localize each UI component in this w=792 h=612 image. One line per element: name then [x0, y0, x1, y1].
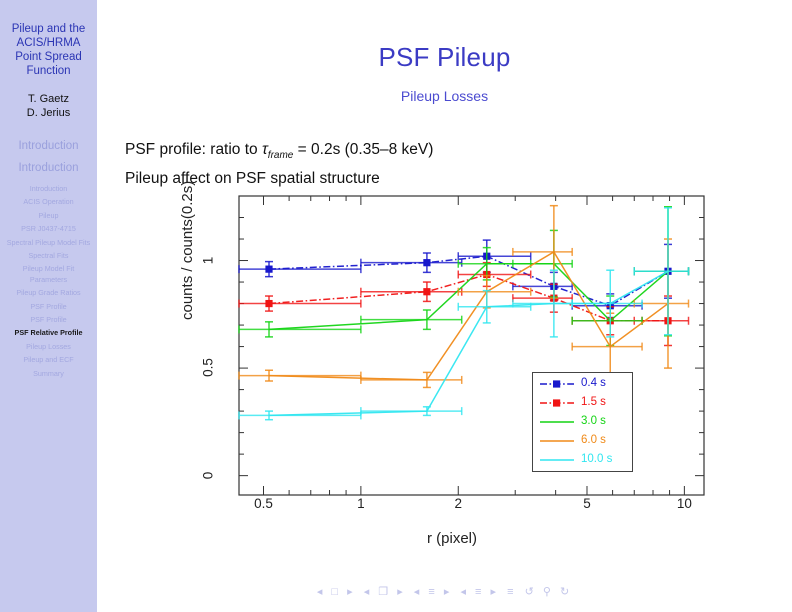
page-subtitle: Pileup Losses [97, 88, 792, 104]
sidebar-item-acis-operation[interactable]: ACIS Operation [6, 197, 91, 207]
nav-back-search-forward-icon[interactable]: ↺ ⚲ ↻ [525, 586, 573, 598]
legend-entry-3: 6.0 s [533, 431, 632, 449]
chart-legend: 0.4 s 1.5 s 3.0 s 6.0 s 10.0 s [532, 372, 633, 472]
sidebar-item-summary[interactable]: Summary [6, 369, 91, 379]
y-axis-label: counts / counts(0.2s) [179, 181, 196, 320]
chart-series-3 [239, 206, 689, 388]
data-point-marker [265, 266, 272, 273]
x-tick-label-2: 2 [438, 496, 478, 511]
bullet-line-2: Pileup affect on PSF spatial structure [125, 167, 765, 190]
sidebar-section-introduction-2[interactable]: Introduction [0, 160, 97, 176]
tau-subscript: frame [268, 150, 294, 161]
legend-entry-0: 0.4 s [533, 374, 632, 392]
bullet-line-1: PSF profile: ratio to τframe = 0.2s (0.3… [125, 138, 765, 167]
sidebar-item-psf-relative-profile[interactable]: PSF Relative Profile [6, 328, 91, 338]
y-tick-label-0: 0 [201, 460, 216, 490]
legend-swatch-2 [539, 415, 575, 427]
legend-entry-1: 1.5 s [533, 393, 632, 411]
chart-canvas [187, 190, 727, 520]
tau-symbol: τframe [262, 141, 293, 158]
sidebar-item-pileup-losses[interactable]: Pileup Losses [6, 342, 91, 352]
nav-section-icon[interactable]: ◂ ≡ ▸ [460, 586, 499, 598]
legend-swatch-0 [539, 377, 575, 389]
chart-series-0 [239, 240, 689, 317]
nav-frame-icon[interactable]: ◂ □ ▸ [317, 586, 356, 598]
x-tick-label-4: 10 [664, 496, 704, 511]
navigation-bar: ◂ □ ▸ ◂ ❐ ▸ ◂ ≡ ▸ ◂ ≡ ▸ ≡ ↺ ⚲ ↻ [97, 585, 792, 598]
author-2: D. Jerius [0, 106, 97, 120]
legend-label-2: 3.0 s [581, 415, 606, 427]
nav-subsection-icon[interactable]: ◂ ≡ ▸ [414, 586, 453, 598]
sidebar-section-introduction-1[interactable]: Introduction [0, 138, 97, 154]
legend-swatch-1 [539, 396, 575, 408]
psf-relative-profile-chart: counts / counts(0.2s) r (pixel) 0.512510… [187, 190, 727, 570]
chart-frame [239, 196, 704, 495]
nav-doc-icon[interactable]: ≡ [507, 586, 516, 598]
sidebar-item-spectral-fits[interactable]: Spectral Fits [6, 251, 91, 261]
legend-label-1: 1.5 s [581, 396, 606, 408]
legend-entry-4: 10.0 s [533, 450, 632, 468]
y-tick-label-1: 0.5 [201, 353, 216, 383]
data-point-marker [423, 288, 430, 295]
sidebar-item-pileup-and-ecf[interactable]: Pileup and ECF [6, 355, 91, 365]
bullet-line-1-pre: PSF profile: ratio to [125, 141, 262, 158]
bullet-block: PSF profile: ratio to τframe = 0.2s (0.3… [125, 138, 765, 190]
author-1: T. Gaetz [0, 92, 97, 106]
nav-slide-icon[interactable]: ◂ ❐ ▸ [364, 586, 406, 598]
deck-title: Pileup and the ACIS/HRMA Point Spread Fu… [0, 22, 97, 78]
sidebar-item-pileup-grade-ratios[interactable]: Pileup Grade Ratios [6, 288, 91, 298]
x-tick-label-1: 1 [341, 496, 381, 511]
legend-label-0: 0.4 s [581, 377, 606, 389]
author-list: T. Gaetz D. Jerius [0, 92, 97, 120]
legend-swatch-4 [539, 453, 575, 465]
page-title: PSF Pileup [97, 42, 792, 73]
legend-label-4: 10.0 s [581, 453, 612, 465]
bullet-line-1-post: = 0.2s (0.35–8 keV) [293, 141, 433, 158]
data-point-marker [265, 300, 272, 307]
sidebar-subsection-list: Introduction ACIS Operation Pileup PSR J… [0, 184, 97, 379]
sidebar-item-psr-j0437-4715[interactable]: PSR J0437-4715 [6, 224, 91, 234]
sidebar-item-introduction[interactable]: Introduction [6, 184, 91, 194]
sidebar: Pileup and the ACIS/HRMA Point Spread Fu… [0, 0, 97, 612]
sidebar-item-pileup-model-fit-parameters[interactable]: Pileup Model Fit Parameters [6, 264, 91, 285]
sidebar-item-spectral-pileup-model-fits[interactable]: Spectral Pileup Model Fits [6, 238, 91, 248]
x-axis-label: r (pixel) [187, 530, 717, 547]
slide-body: PSF Pileup Pileup Losses PSF profile: ra… [97, 0, 792, 612]
y-tick-label-2: 1 [201, 245, 216, 275]
legend-label-3: 6.0 s [581, 434, 606, 446]
data-point-marker [423, 259, 430, 266]
x-tick-label-3: 5 [567, 496, 607, 511]
sidebar-item-pileup[interactable]: Pileup [6, 211, 91, 221]
legend-swatch-3 [539, 434, 575, 446]
x-tick-label-0: 0.5 [243, 496, 283, 511]
legend-entry-2: 3.0 s [533, 412, 632, 430]
sidebar-item-psf-profile-1[interactable]: PSF Profile [6, 302, 91, 312]
sidebar-item-psf-profile-2[interactable]: PSF Profile [6, 315, 91, 325]
